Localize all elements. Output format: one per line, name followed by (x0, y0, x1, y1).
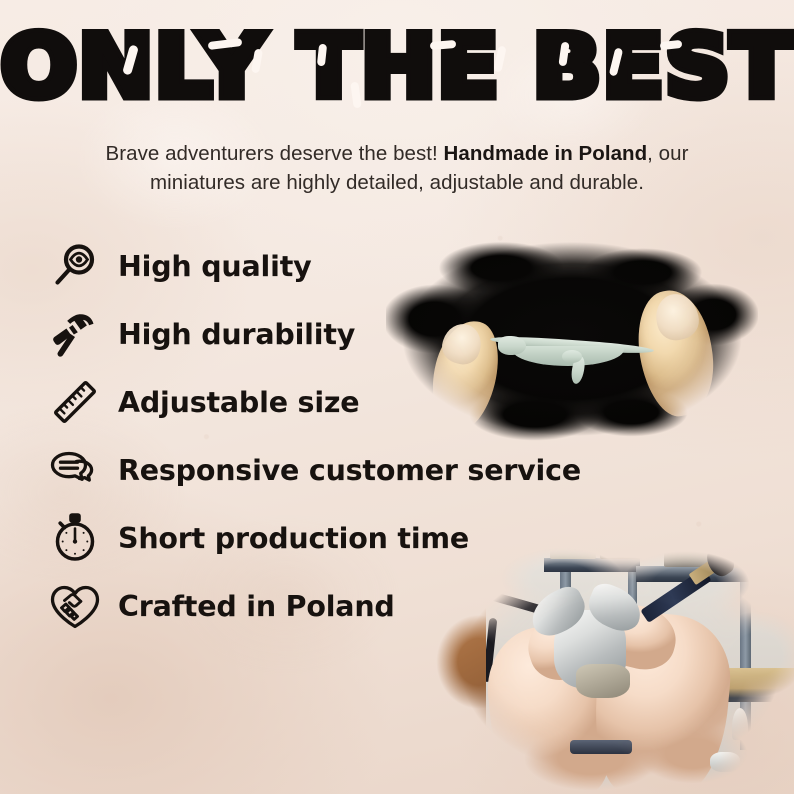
photo-top-miniature-knot (562, 350, 582, 363)
photo-miniature-painting-workshop (432, 540, 794, 794)
list-item-label: Adjustable size (118, 386, 359, 419)
photo-flexible-miniature-part (386, 228, 758, 450)
list-item-label: Crafted in Poland (118, 590, 395, 623)
headline-container: ONLY THE BEST (0, 26, 794, 109)
list-item-label: Responsive customer service (118, 454, 581, 487)
stopwatch-icon (46, 511, 104, 565)
handshake-heart-icon (46, 579, 104, 633)
workbench-surface (720, 668, 794, 702)
photo-top-miniature-hub (498, 336, 526, 355)
shelf-clutter-2 (600, 548, 640, 559)
list-item-label: Short production time (118, 522, 469, 555)
list-item-label: High quality (118, 250, 312, 283)
list-item-label: High durability (118, 318, 355, 351)
hammer-icon (46, 307, 104, 361)
unpainted-mini-2 (756, 726, 770, 752)
subtitle-emphasis: Handmade in Poland (444, 142, 648, 165)
shelf-board-top-left (544, 558, 640, 572)
promo-banner: ONLY THE BEST Brave adventurers deserve … (0, 0, 794, 794)
magnifier-eye-icon (46, 239, 104, 293)
ruler-icon (46, 375, 104, 429)
subtitle-part-1: Brave adventurers deserve the best! (106, 142, 444, 165)
unpainted-mini-3 (710, 752, 740, 772)
speech-bubbles-icon (46, 443, 104, 497)
shelf-clutter-1 (550, 546, 596, 559)
bench-tray (570, 740, 632, 754)
page-title: ONLY THE BEST (1, 26, 794, 109)
miniature-base (576, 664, 630, 698)
unpainted-mini-1 (732, 708, 748, 740)
subtitle: Brave adventurers deserve the best! Hand… (67, 139, 727, 197)
leather-mat (432, 584, 486, 762)
